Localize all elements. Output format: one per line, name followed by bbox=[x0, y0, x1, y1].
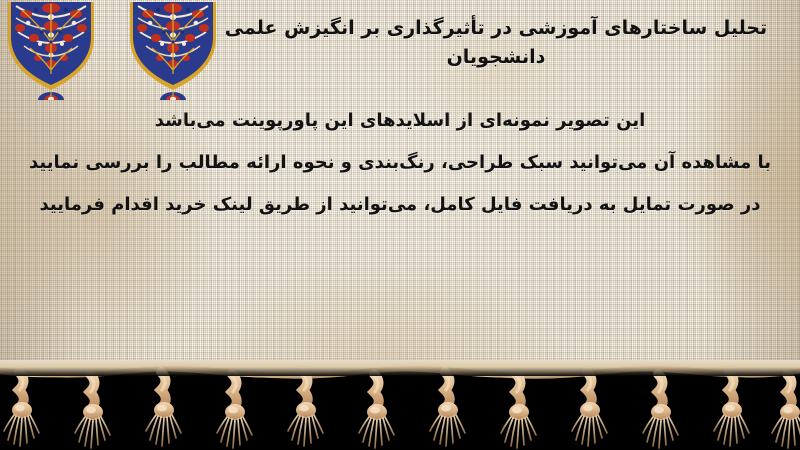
page-title: تحلیل ساختارهای آموزشی در تأثیرگذاری بر … bbox=[216, 14, 776, 73]
body-text-block: این تصویر نمونه‌ای از اسلایدهای این پاور… bbox=[16, 112, 784, 214]
ornament-left-shape bbox=[8, 2, 94, 100]
ornament-right-shape bbox=[130, 2, 216, 100]
carpet-fringe bbox=[0, 360, 800, 450]
body-line-1: این تصویر نمونه‌ای از اسلایدهای این پاور… bbox=[16, 112, 784, 130]
body-line-3: در صورت تمایل به دریافت فایل کامل، می‌تو… bbox=[16, 196, 784, 214]
body-line-2: با مشاهده آن می‌توانید سبک طراحی، رنگ‌بن… bbox=[16, 154, 784, 172]
persian-carpet-slide: تحلیل ساختارهای آموزشی در تأثیرگذاری بر … bbox=[0, 0, 800, 450]
fringe-blend-edge bbox=[0, 360, 800, 376]
